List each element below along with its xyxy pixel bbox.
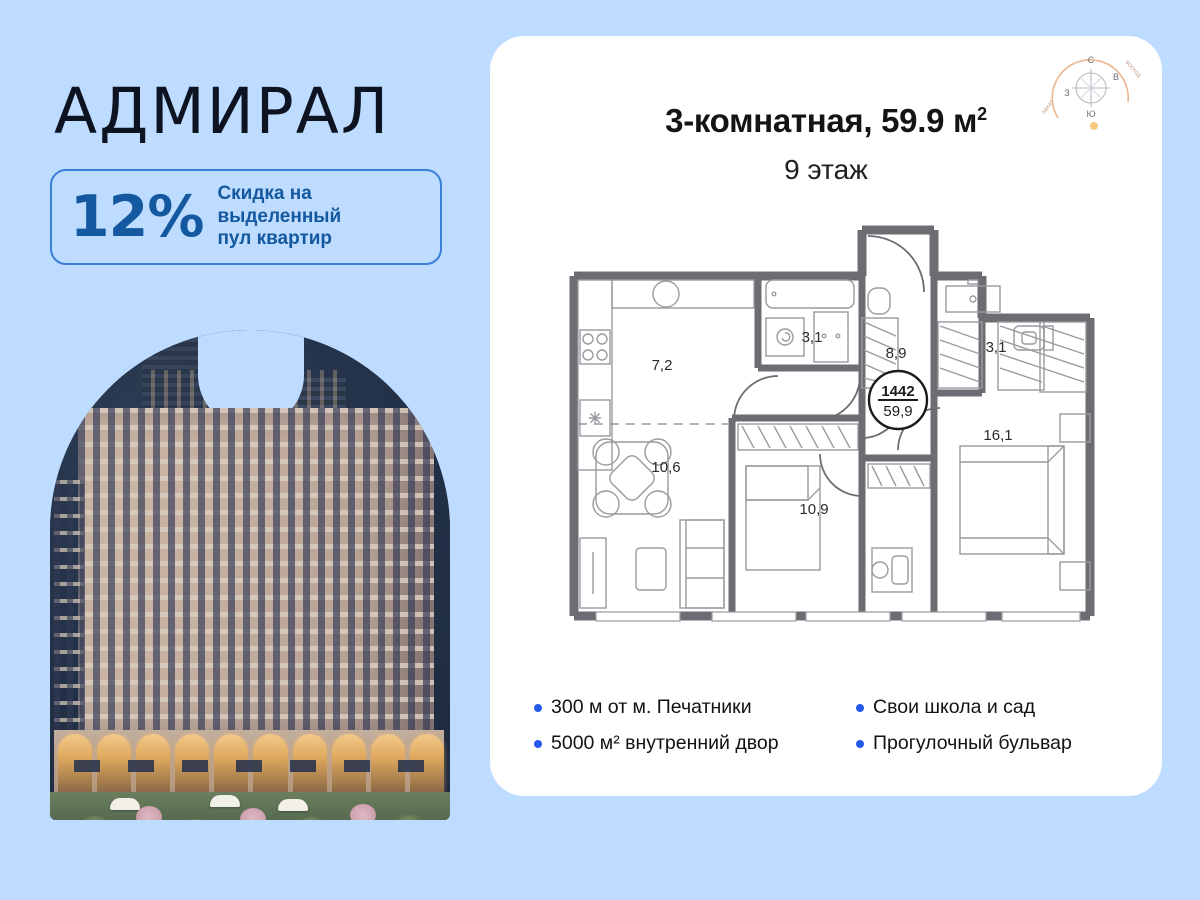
wardrobe-icon <box>998 322 1044 390</box>
plan-title-text: 3-комнатная, 59.9 м <box>665 102 977 139</box>
feature-label: 5000 м² внутренний двор <box>551 732 779 756</box>
discount-badge: 12% Скидка на выделенный пул квартир <box>50 169 442 265</box>
kitchen-sink-icon <box>653 281 679 307</box>
discount-description: Скидка на выделенный пул квартир <box>217 183 341 250</box>
apartment-number: 1442 <box>881 383 914 400</box>
wardrobe-icon <box>868 464 930 488</box>
floorplan-drawing: 7,2 3,1 8,9 3,1 10,6 10,9 16,1 1442 59,9 <box>562 218 1102 668</box>
floor-label: 9 этаж <box>490 154 1162 186</box>
tv-unit-icon <box>580 538 606 608</box>
feature-item: Прогулочный бульвар <box>856 732 1134 756</box>
features-list: 300 м от м. Печатники Свои школа и сад 5… <box>534 696 1134 756</box>
desk-icon <box>872 548 912 592</box>
room-label-bedroom-master: 16,1 <box>983 427 1012 444</box>
bed-single-icon <box>746 466 820 570</box>
feature-item: 5000 м² внутренний двор <box>534 732 856 756</box>
washing-machine-icon <box>766 318 804 356</box>
discount-percent-value: 12% <box>70 189 203 246</box>
cafe-umbrella <box>210 795 240 807</box>
bullet-icon <box>856 740 864 748</box>
vanity-sink-icon <box>946 280 1000 312</box>
coffee-table-icon <box>636 548 666 590</box>
compass-east-label: В <box>1113 72 1119 82</box>
shop-signage-strip <box>60 760 440 772</box>
facade-left-wing <box>54 480 84 738</box>
blossom-tree <box>350 804 376 820</box>
kitchen-hob-icon <box>580 330 610 364</box>
feature-label: Прогулочный бульвар <box>873 732 1072 756</box>
compass-north-label: С <box>1088 55 1095 65</box>
entry-fixture-icon <box>868 288 890 314</box>
room-label-living-room: 10,6 <box>651 459 680 476</box>
bullet-icon <box>856 704 864 712</box>
bullet-icon <box>534 740 542 748</box>
bullet-icon <box>534 704 542 712</box>
discount-line-1: Скидка на <box>217 183 341 205</box>
room-label-bathroom-main: 3,1 <box>802 329 823 346</box>
apartment-area: 59,9 <box>883 403 912 420</box>
wardrobe-icon <box>938 322 982 388</box>
feature-item: 300 м от м. Печатники <box>534 696 856 720</box>
wardrobe-icon <box>738 424 858 450</box>
compass-west-label: З <box>1064 88 1069 98</box>
bed-double-icon <box>960 446 1064 554</box>
advertisement-page: АДМИРАЛ 12% Скидка на выделенный пул ква… <box>0 0 1200 900</box>
discount-line-2: выделенный <box>217 206 341 228</box>
kitchen-appliance-icon <box>580 400 610 436</box>
plan-windows <box>596 612 1080 621</box>
cafe-umbrella <box>278 799 308 811</box>
brand-panel: АДМИРАЛ 12% Скидка на выделенный пул ква… <box>50 80 450 820</box>
brand-logo: АДМИРАЛ <box>54 80 450 143</box>
apartment-badge: 1442 59,9 <box>869 371 927 429</box>
plan-title-superscript: 2 <box>977 104 987 124</box>
wardrobe-icon <box>1040 322 1086 392</box>
feature-item: Свои школа и сад <box>856 696 1134 720</box>
compass-sunrise-label: восход <box>1124 59 1143 79</box>
bathtub-icon <box>766 280 854 308</box>
dining-table-icon <box>593 439 671 517</box>
discount-line-3: пул квартир <box>217 228 341 250</box>
room-label-bathroom-guest: 3,1 <box>986 339 1007 356</box>
facade-window-grid <box>78 408 434 738</box>
feature-label: 300 м от м. Печатники <box>551 696 752 720</box>
sofa-icon <box>680 520 724 608</box>
floorplan-card: С Ю В З восход закат 3-комнатная, 59.9 м… <box>490 36 1162 796</box>
feature-label: Свои школа и сад <box>873 696 1035 720</box>
room-label-bedroom-small: 10,9 <box>799 501 828 518</box>
cafe-umbrella <box>110 798 140 810</box>
room-label-kitchen: 7,2 <box>652 357 673 374</box>
page-title: 3-комнатная, 59.9 м2 <box>490 102 1162 140</box>
plan-outer-walls <box>574 230 1090 616</box>
plan-fixtures <box>578 280 1090 608</box>
building-render-photo <box>50 330 450 820</box>
room-label-hallway: 8,9 <box>886 345 907 362</box>
